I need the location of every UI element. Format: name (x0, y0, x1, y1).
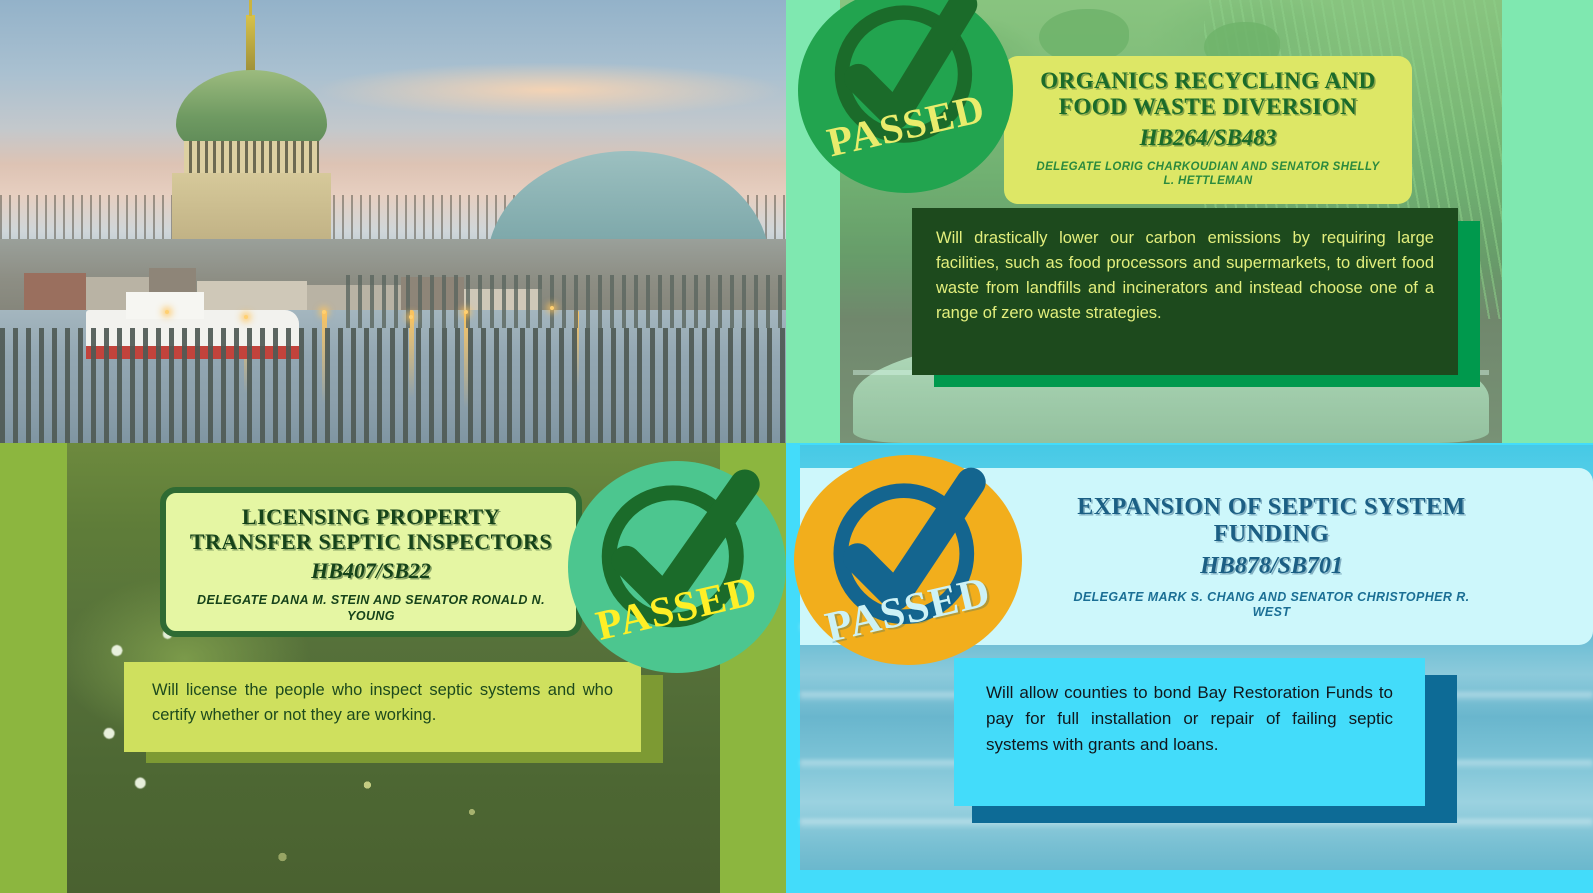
license-bill-number: HB407/SB22 (180, 558, 562, 584)
panel-licensing-inspectors: LICENSING PROPERTY TRANSFER SEPTIC INSPE… (0, 443, 786, 893)
panel-septic-funding: EXPANSION OF SEPTIC SYSTEM FUNDING HB878… (786, 443, 1593, 893)
license-passed-badge: PASSED (568, 461, 786, 673)
organics-bill-number: HB264/SB483 (1022, 125, 1394, 151)
license-body-card: Will license the people who inspect sept… (124, 662, 641, 752)
septic-body-card: Will allow counties to bond Bay Restorat… (954, 658, 1425, 806)
dock-pilings (0, 328, 786, 443)
annapolis-waterfront-photo (0, 0, 786, 443)
organics-title-card: ORGANICS RECYCLING AND FOOD WASTE DIVERS… (1004, 56, 1412, 204)
organics-sponsors: DELEGATE LORIG CHARKOUDIAN AND SENATOR S… (1022, 160, 1394, 188)
license-title-card: LICENSING PROPERTY TRANSFER SEPTIC INSPE… (160, 487, 582, 637)
boat-wheelhouse (126, 292, 205, 319)
panel-organics-recycling: ORGANICS RECYCLING AND FOOD WASTE DIVERS… (786, 0, 1593, 443)
septic-passed-badge: PASSED (794, 455, 1022, 665)
license-title-line2: TRANSFER SEPTIC INSPECTORS (180, 530, 562, 555)
far-pilings (346, 275, 786, 328)
organics-title-line2: FOOD WASTE DIVERSION (1022, 94, 1394, 120)
chapel-dome (157, 40, 346, 270)
dome-cap (176, 70, 327, 148)
organics-body-card: Will drastically lower our carbon emissi… (912, 208, 1458, 375)
organics-title-line1: ORGANICS RECYCLING AND (1022, 68, 1394, 94)
organics-passed-badge: PASSED (798, 0, 1013, 193)
bill-status-collage: ORGANICS RECYCLING AND FOOD WASTE DIVERS… (0, 0, 1593, 893)
license-title-line1: LICENSING PROPERTY (180, 505, 562, 530)
dome-spire (246, 15, 255, 75)
license-sponsors: DELEGATE DANA M. STEIN AND SENATOR RONAL… (180, 593, 562, 624)
